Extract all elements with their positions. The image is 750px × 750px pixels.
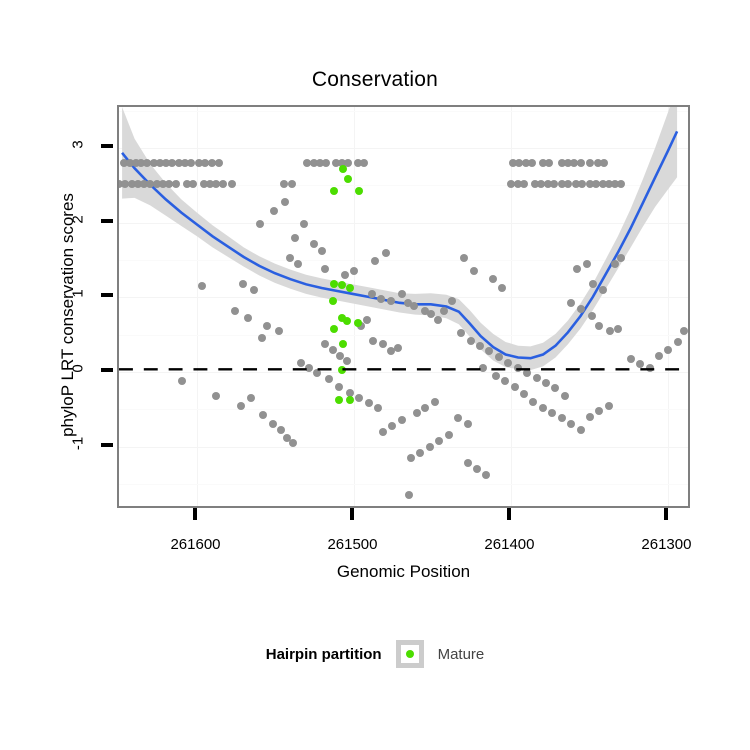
data-point-other bbox=[247, 394, 255, 402]
data-point-mature bbox=[355, 187, 363, 195]
data-point-other bbox=[577, 305, 585, 313]
data-point-other bbox=[464, 420, 472, 428]
data-point-other bbox=[511, 383, 519, 391]
chart-title: Conservation bbox=[0, 68, 750, 92]
x-tick-mark bbox=[507, 508, 511, 520]
y-tick-mark bbox=[101, 443, 113, 447]
data-point-other bbox=[398, 416, 406, 424]
data-point-other bbox=[664, 346, 672, 354]
y-tick-mark bbox=[101, 219, 113, 223]
grid-line-minor bbox=[119, 484, 688, 485]
legend: Hairpin partition Mature bbox=[0, 640, 750, 668]
data-point-other bbox=[398, 290, 406, 298]
data-point-other bbox=[250, 286, 258, 294]
data-point-other bbox=[172, 180, 180, 188]
data-point-other bbox=[573, 265, 581, 273]
data-point-other bbox=[528, 159, 536, 167]
data-point-other bbox=[388, 422, 396, 430]
data-point-other bbox=[434, 316, 442, 324]
y-tick-label: -1 bbox=[70, 428, 87, 458]
data-point-other bbox=[595, 322, 603, 330]
y-tick-label: 0 bbox=[70, 353, 87, 383]
data-point-other bbox=[294, 260, 302, 268]
data-point-other bbox=[410, 302, 418, 310]
data-point-other bbox=[501, 377, 509, 385]
data-point-other bbox=[457, 329, 465, 337]
data-point-other bbox=[599, 286, 607, 294]
data-point-other bbox=[550, 180, 558, 188]
data-point-other bbox=[431, 398, 439, 406]
data-point-other bbox=[413, 409, 421, 417]
data-point-other bbox=[325, 375, 333, 383]
y-tick-label: 1 bbox=[70, 279, 87, 309]
legend-title: Hairpin partition bbox=[266, 646, 382, 663]
data-point-other bbox=[460, 254, 468, 262]
data-point-other bbox=[551, 384, 559, 392]
data-point-other bbox=[498, 284, 506, 292]
data-point-other bbox=[322, 159, 330, 167]
data-point-other bbox=[329, 346, 337, 354]
data-point-other bbox=[578, 180, 586, 188]
data-point-other bbox=[545, 159, 553, 167]
data-point-other bbox=[387, 347, 395, 355]
data-point-other bbox=[421, 404, 429, 412]
x-tick-label: 261400 bbox=[469, 536, 549, 553]
data-point-other bbox=[263, 322, 271, 330]
x-tick-mark bbox=[350, 508, 354, 520]
data-point-other bbox=[617, 180, 625, 188]
data-point-other bbox=[605, 402, 613, 410]
data-point-other bbox=[219, 180, 227, 188]
grid-line-minor bbox=[119, 111, 688, 112]
data-point-other bbox=[270, 207, 278, 215]
data-point-other bbox=[281, 198, 289, 206]
y-tick-mark bbox=[101, 293, 113, 297]
data-point-other bbox=[476, 342, 484, 350]
data-point-other bbox=[365, 399, 373, 407]
x-tick-label: 261600 bbox=[155, 536, 235, 553]
data-point-other bbox=[350, 267, 358, 275]
data-point-other bbox=[435, 437, 443, 445]
data-point-other bbox=[445, 431, 453, 439]
data-point-other bbox=[368, 290, 376, 298]
data-point-other bbox=[600, 159, 608, 167]
x-tick-mark bbox=[193, 508, 197, 520]
data-point-mature bbox=[344, 175, 352, 183]
chart-figure: Conservation phyloP LRT conservation sco… bbox=[0, 0, 750, 750]
data-point-other bbox=[558, 414, 566, 422]
data-point-other bbox=[680, 327, 688, 335]
data-point-other bbox=[577, 159, 585, 167]
data-point-other bbox=[489, 275, 497, 283]
data-point-other bbox=[321, 340, 329, 348]
data-point-other bbox=[187, 159, 195, 167]
data-point-other bbox=[567, 299, 575, 307]
data-point-other bbox=[567, 420, 575, 428]
data-point-other bbox=[473, 465, 481, 473]
data-point-other bbox=[614, 325, 622, 333]
data-point-other bbox=[178, 377, 186, 385]
data-point-other bbox=[335, 383, 343, 391]
data-point-other bbox=[212, 392, 220, 400]
data-point-other bbox=[269, 420, 277, 428]
grid-line-horizontal bbox=[119, 372, 688, 373]
grid-line-minor bbox=[119, 260, 688, 261]
data-point-other bbox=[583, 260, 591, 268]
data-point-other bbox=[259, 411, 267, 419]
data-point-other bbox=[416, 449, 424, 457]
data-point-other bbox=[627, 355, 635, 363]
data-point-other bbox=[394, 344, 402, 352]
data-point-other bbox=[655, 352, 663, 360]
data-point-mature bbox=[338, 366, 346, 374]
data-point-other bbox=[374, 404, 382, 412]
data-point-other bbox=[467, 337, 475, 345]
data-point-other bbox=[492, 372, 500, 380]
data-point-other bbox=[646, 364, 654, 372]
data-point-other bbox=[520, 390, 528, 398]
data-point-other bbox=[514, 364, 522, 372]
grid-line-minor bbox=[119, 335, 688, 336]
data-point-other bbox=[520, 180, 528, 188]
data-point-other bbox=[523, 369, 531, 377]
data-point-mature bbox=[330, 325, 338, 333]
data-point-other bbox=[198, 282, 206, 290]
data-point-other bbox=[379, 340, 387, 348]
x-tick-label: 261300 bbox=[626, 536, 706, 553]
data-point-mature bbox=[338, 281, 346, 289]
legend-key-mature[interactable] bbox=[396, 640, 424, 668]
data-point-other bbox=[275, 327, 283, 335]
data-point-mature bbox=[354, 319, 362, 327]
data-point-other bbox=[482, 471, 490, 479]
data-point-other bbox=[379, 428, 387, 436]
data-point-other bbox=[464, 459, 472, 467]
y-tick-label: 3 bbox=[70, 130, 87, 160]
data-point-other bbox=[239, 280, 247, 288]
legend-dot-icon bbox=[406, 650, 414, 658]
data-point-mature bbox=[346, 396, 354, 404]
y-tick-label: 2 bbox=[70, 204, 87, 234]
data-point-other bbox=[208, 159, 216, 167]
plot-panel bbox=[117, 105, 690, 508]
data-point-other bbox=[280, 180, 288, 188]
data-point-mature bbox=[330, 187, 338, 195]
grid-line-horizontal bbox=[119, 223, 688, 224]
data-point-other bbox=[470, 267, 478, 275]
data-point-other bbox=[440, 307, 448, 315]
data-point-other bbox=[636, 360, 644, 368]
data-point-other bbox=[586, 159, 594, 167]
data-point-other bbox=[277, 426, 285, 434]
y-tick-mark bbox=[101, 368, 113, 372]
data-point-other bbox=[529, 398, 537, 406]
data-point-other bbox=[588, 312, 596, 320]
data-point-other bbox=[369, 337, 377, 345]
data-point-mature bbox=[335, 396, 343, 404]
data-point-other bbox=[405, 491, 413, 499]
data-point-other bbox=[258, 334, 266, 342]
data-point-other bbox=[228, 180, 236, 188]
legend-key-inner bbox=[401, 645, 419, 663]
data-point-mature bbox=[346, 284, 354, 292]
y-tick-mark bbox=[101, 144, 113, 148]
data-point-other bbox=[355, 394, 363, 402]
data-point-other bbox=[577, 426, 585, 434]
data-point-other bbox=[595, 407, 603, 415]
confidence-band bbox=[122, 107, 677, 370]
data-point-other bbox=[485, 347, 493, 355]
data-point-other bbox=[297, 359, 305, 367]
data-point-other bbox=[244, 314, 252, 322]
data-point-other bbox=[215, 159, 223, 167]
data-point-other bbox=[539, 404, 547, 412]
data-point-other bbox=[542, 379, 550, 387]
data-point-other bbox=[189, 180, 197, 188]
data-point-other bbox=[589, 280, 597, 288]
data-point-mature bbox=[339, 165, 347, 173]
data-point-other bbox=[256, 220, 264, 228]
data-point-other bbox=[533, 374, 541, 382]
x-tick-mark bbox=[664, 508, 668, 520]
data-point-other bbox=[291, 234, 299, 242]
data-point-mature bbox=[329, 297, 337, 305]
data-point-other bbox=[360, 159, 368, 167]
x-tick-label: 261500 bbox=[312, 536, 392, 553]
data-point-mature bbox=[330, 280, 338, 288]
y-axis-title: phyloP LRT conservation scores bbox=[58, 105, 78, 525]
data-point-mature bbox=[339, 340, 347, 348]
data-point-other bbox=[231, 307, 239, 315]
data-point-other bbox=[407, 454, 415, 462]
grid-line-horizontal bbox=[119, 447, 688, 448]
data-point-other bbox=[674, 338, 682, 346]
legend-label-mature: Mature bbox=[438, 646, 485, 663]
data-point-other bbox=[310, 240, 318, 248]
data-point-other bbox=[382, 249, 390, 257]
data-point-other bbox=[371, 257, 379, 265]
data-point-other bbox=[321, 265, 329, 273]
data-point-other bbox=[454, 414, 462, 422]
data-point-other bbox=[448, 297, 456, 305]
data-point-other bbox=[377, 295, 385, 303]
grid-line-horizontal bbox=[119, 148, 688, 149]
data-point-other bbox=[318, 247, 326, 255]
data-point-other bbox=[495, 353, 503, 361]
data-point-other bbox=[288, 180, 296, 188]
data-point-other bbox=[237, 402, 245, 410]
data-point-other bbox=[586, 413, 594, 421]
data-point-other bbox=[300, 220, 308, 228]
x-axis-title: Genomic Position bbox=[117, 562, 690, 582]
data-point-other bbox=[564, 180, 572, 188]
data-point-other bbox=[363, 316, 371, 324]
data-point-other bbox=[343, 357, 351, 365]
data-point-other bbox=[561, 392, 569, 400]
data-point-other bbox=[286, 254, 294, 262]
data-point-other bbox=[313, 369, 321, 377]
data-point-mature bbox=[343, 317, 351, 325]
data-point-other bbox=[617, 254, 625, 262]
data-point-other bbox=[548, 409, 556, 417]
data-point-other bbox=[426, 443, 434, 451]
data-point-other bbox=[387, 297, 395, 305]
data-point-other bbox=[341, 271, 349, 279]
